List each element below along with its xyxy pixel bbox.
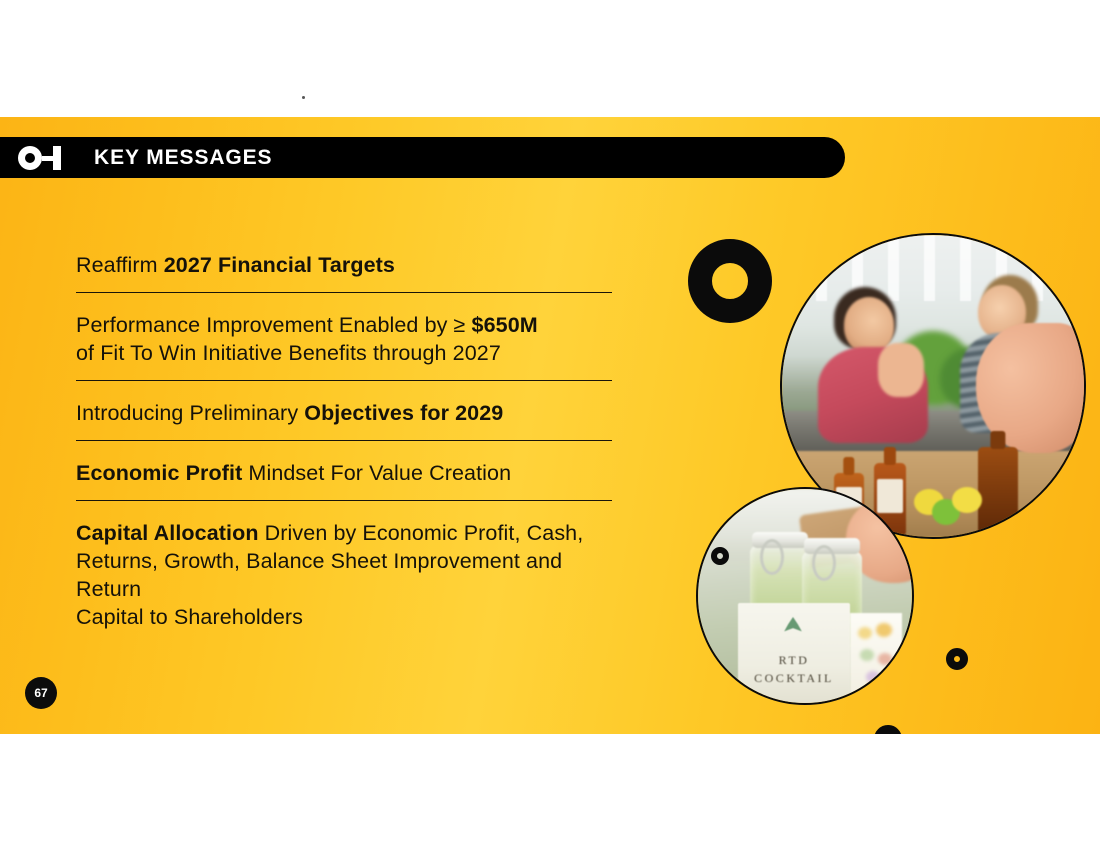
deco-ring-medium: [874, 725, 902, 734]
key-message-line: Reaffirm 2027 Financial Targets: [76, 251, 612, 279]
emphasis-text: Objectives for 2029: [304, 401, 503, 425]
key-message-line: Introducing Preliminary Objectives for 2…: [76, 399, 612, 427]
emphasis-text: $650M: [472, 313, 538, 337]
body-text: Performance Improvement Enabled by ≥: [76, 313, 472, 337]
pack-label-line2: COCKTAIL: [738, 671, 850, 686]
slide-canvas: KEY MESSAGES Reaffirm 2027 Financial Tar…: [0, 0, 1100, 849]
pack-label-line1: RTD: [738, 653, 850, 668]
key-message-line: Performance Improvement Enabled by ≥ $65…: [76, 311, 612, 339]
dust-speck-artifact: [302, 96, 305, 99]
key-message-line: Capital to Shareholders: [76, 603, 621, 631]
body-text: of Fit To Win Initiative Benefits throug…: [76, 341, 501, 365]
emphasis-text: 2027 Financial Targets: [164, 253, 395, 277]
key-message-line: of Fit To Win Initiative Benefits throug…: [76, 339, 612, 367]
deco-ring-small: [946, 648, 968, 670]
presentation-slide: KEY MESSAGES Reaffirm 2027 Financial Tar…: [0, 117, 1100, 734]
key-messages-list: Reaffirm 2027 Financial TargetsPerforman…: [76, 251, 612, 631]
body-text: Driven by Economic Profit, Cash,: [259, 521, 584, 545]
logo-bar-icon: [53, 146, 61, 170]
key-message-line: Capital Allocation Driven by Economic Pr…: [76, 519, 621, 547]
page-number-badge: 67: [25, 677, 57, 709]
key-message-line: Returns, Growth, Balance Sheet Improveme…: [76, 547, 621, 603]
deco-ring-tiny: [711, 547, 729, 565]
body-text: Reaffirm: [76, 253, 164, 277]
key-message-objectives-2029: Introducing Preliminary Objectives for 2…: [76, 399, 612, 441]
oi-brand-logo: [18, 146, 64, 170]
key-message-capital-allocation: Capital Allocation Driven by Economic Pr…: [76, 519, 621, 631]
logo-ring-icon: [18, 146, 42, 170]
photo-collage: RTD COCKTAIL: [660, 197, 1080, 697]
key-message-economic-profit: Economic Profit Mindset For Value Creati…: [76, 459, 612, 501]
key-message-line: Economic Profit Mindset For Value Creati…: [76, 459, 612, 487]
body-text: Capital to Shareholders: [76, 605, 303, 629]
body-text: Mindset For Value Creation: [242, 461, 511, 485]
slide-header-title: KEY MESSAGES: [94, 146, 272, 170]
deco-ring-large: [688, 239, 772, 323]
rtd-cocktail-pack-photo: RTD COCKTAIL: [696, 487, 914, 705]
key-message-performance-improvement: Performance Improvement Enabled by ≥ $65…: [76, 311, 612, 381]
emphasis-text: Economic Profit: [76, 461, 242, 485]
key-message-reaffirm-targets: Reaffirm 2027 Financial Targets: [76, 251, 612, 293]
rtd-pack-illustration: RTD COCKTAIL: [698, 489, 912, 703]
slide-header-bar: KEY MESSAGES: [0, 137, 845, 178]
body-text: Returns, Growth, Balance Sheet Improveme…: [76, 549, 562, 601]
body-text: Introducing Preliminary: [76, 401, 304, 425]
emphasis-text: Capital Allocation: [76, 521, 259, 545]
